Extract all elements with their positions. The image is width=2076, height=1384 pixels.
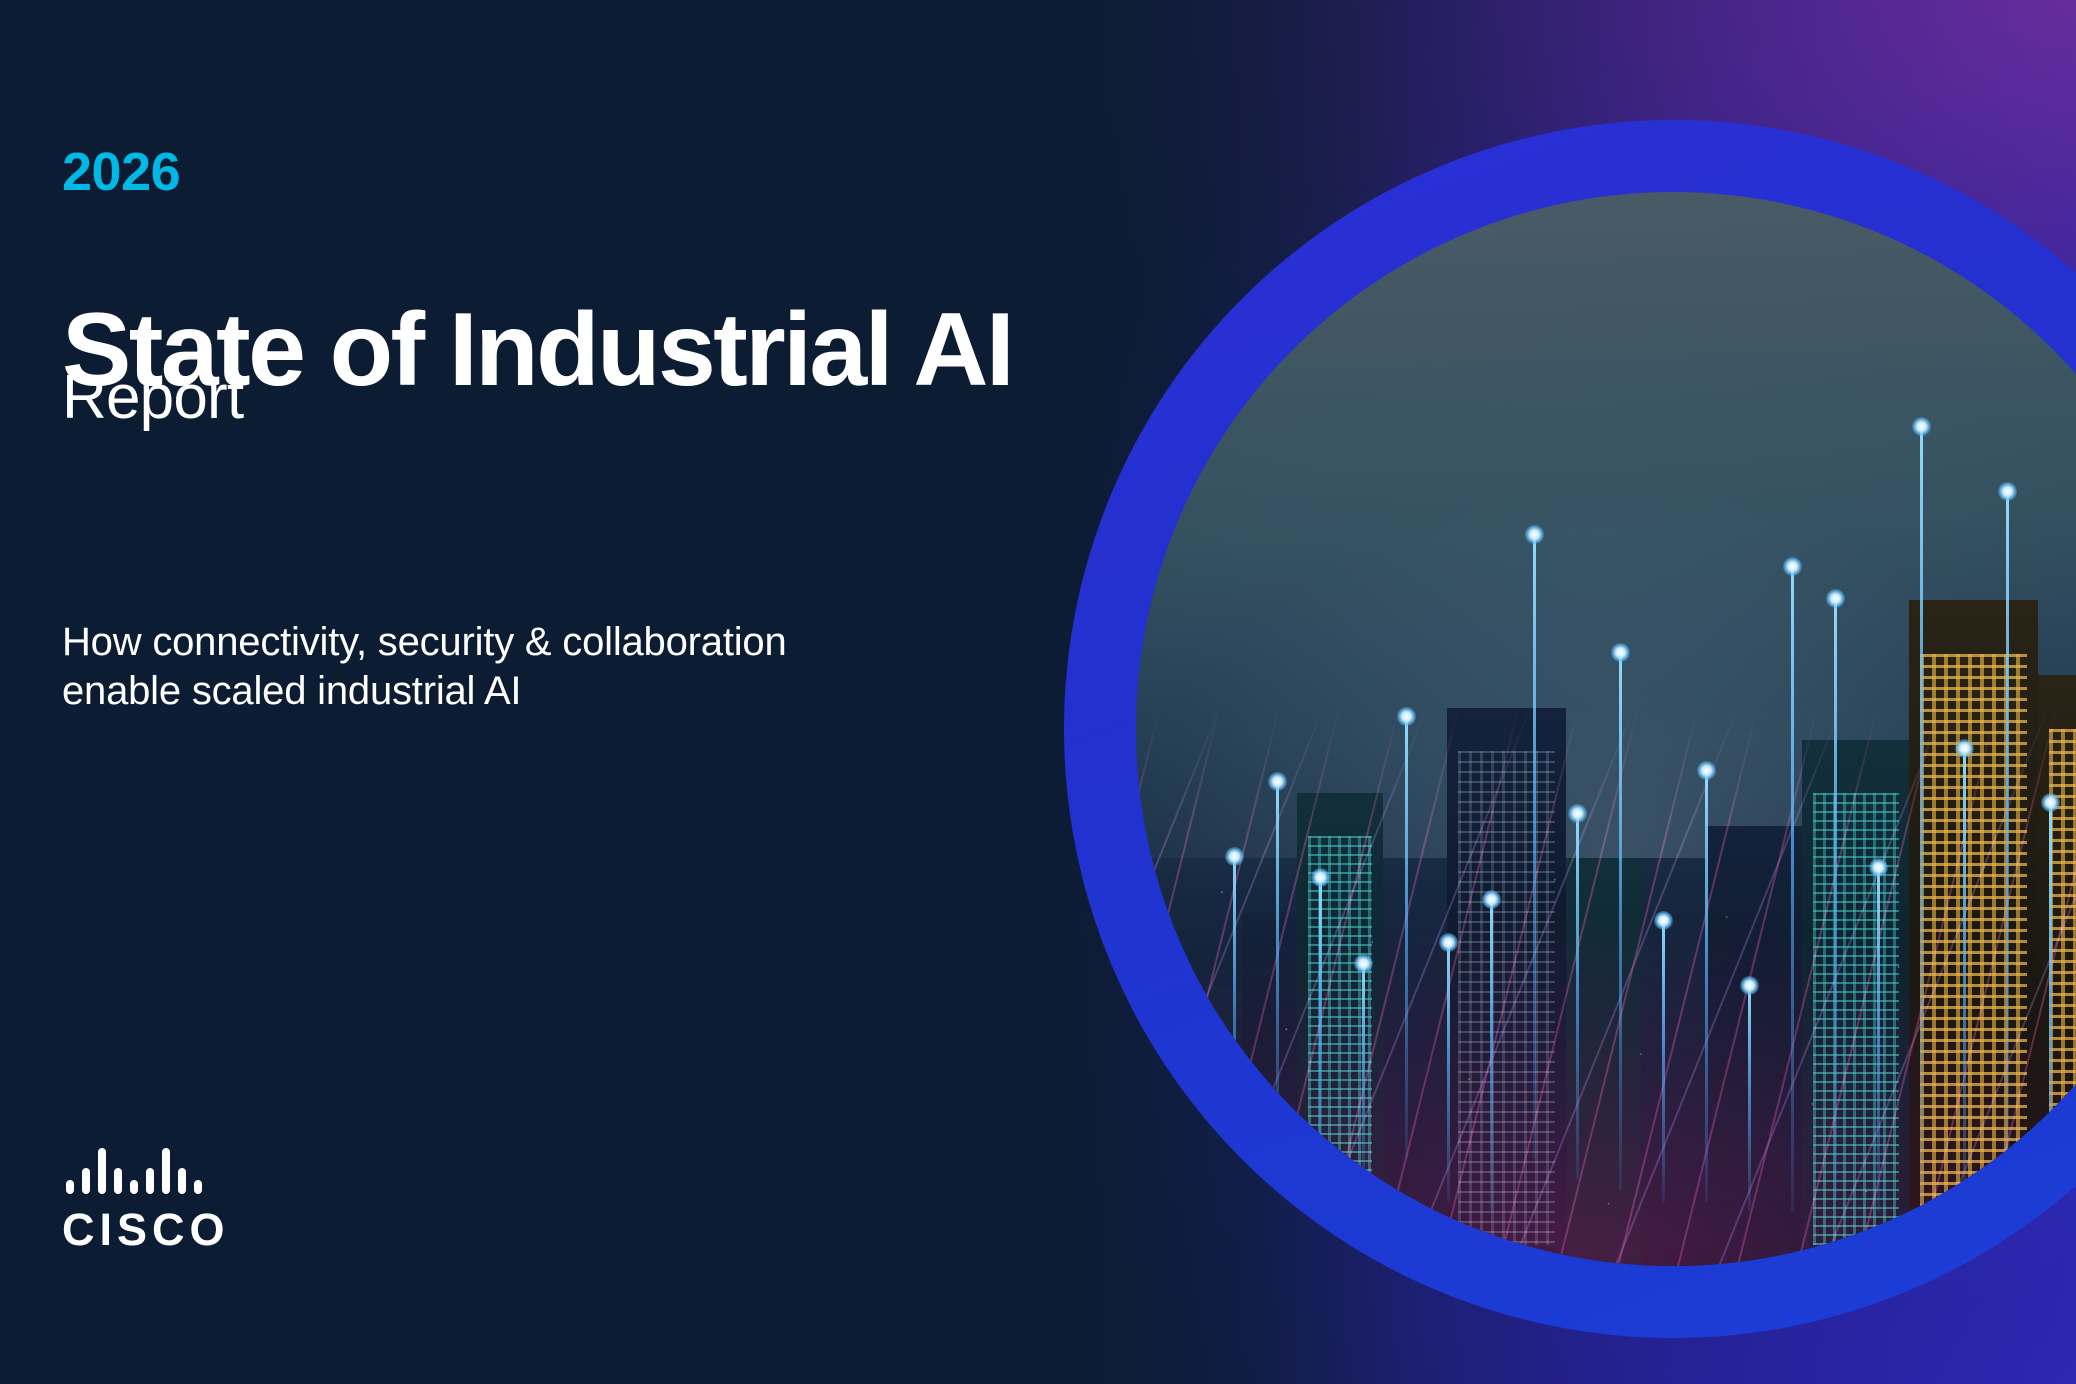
cisco-logo-bar — [178, 1168, 186, 1194]
data-beam — [1319, 879, 1322, 1169]
data-beam — [1233, 858, 1236, 1137]
data-beam — [1834, 600, 1837, 1201]
data-beam — [1920, 428, 1923, 1201]
data-beam — [1748, 987, 1751, 1213]
data-beam — [1405, 718, 1408, 1158]
data-beam — [1576, 815, 1579, 1180]
data-beam — [1490, 901, 1493, 1212]
cisco-bridge-icon — [66, 1148, 272, 1194]
cisco-logo-bar — [98, 1148, 106, 1194]
report-year: 2026 — [62, 145, 180, 199]
data-beam — [1533, 536, 1536, 1159]
data-beam — [1791, 568, 1794, 1212]
data-beam — [2049, 804, 2052, 1234]
data-beam — [1276, 783, 1279, 1148]
page-description: How connectivity, security & collaborati… — [62, 618, 787, 716]
data-beam — [1619, 654, 1622, 1191]
circle-artwork — [1028, 84, 2076, 1374]
cisco-logo-bar — [194, 1180, 202, 1194]
cisco-logo-bar — [114, 1168, 122, 1194]
cisco-logo-bar — [82, 1168, 90, 1194]
data-beam — [1447, 944, 1450, 1202]
report-cover-page: 2026 State of Industrial AI Report How c… — [0, 0, 2076, 1384]
data-beam — [2006, 493, 2009, 1180]
data-beam — [1963, 750, 1966, 1223]
data-beam — [1705, 772, 1708, 1202]
cisco-logo-bar — [66, 1180, 74, 1194]
city-photo-disc — [1136, 192, 2076, 1266]
data-beam-layer — [1136, 192, 2076, 1266]
data-beam — [1362, 965, 1365, 1180]
page-subtitle: Report — [62, 367, 243, 429]
cisco-logo-bar — [146, 1168, 154, 1194]
data-beam — [1877, 869, 1880, 1213]
cisco-logo: CISCO — [62, 1148, 272, 1252]
cisco-logo-bar — [162, 1148, 170, 1194]
cisco-wordmark: CISCO — [62, 1207, 272, 1252]
cisco-logo-bar — [130, 1180, 138, 1194]
data-beam — [1662, 922, 1665, 1201]
